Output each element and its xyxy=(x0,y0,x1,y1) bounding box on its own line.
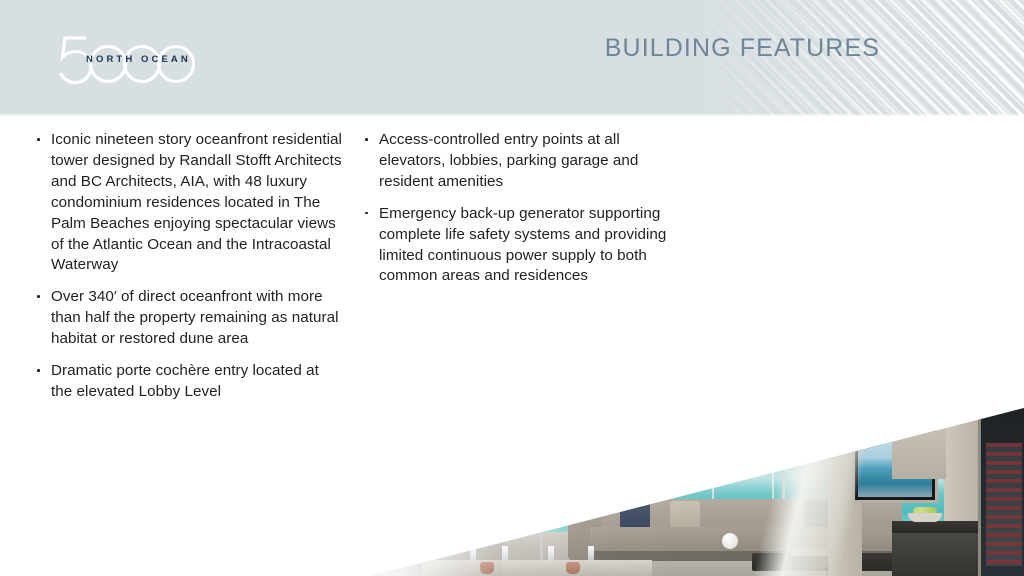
list-item: Emergency back-up generator supporting c… xyxy=(362,204,674,288)
list-item-text: Over 340′ of direct oceanfront with more… xyxy=(51,288,339,347)
photo-ceiling xyxy=(352,395,1024,576)
list-item-text: Emergency back-up generator supporting c… xyxy=(379,205,666,285)
interior-rendering-photo xyxy=(352,395,1024,576)
page-title: BUILDING FEATURES xyxy=(605,34,880,63)
list-item: Iconic nineteen story oceanfront residen… xyxy=(34,130,344,276)
bullet-dot-icon xyxy=(37,369,40,372)
list-item-text: Access-controlled entry points at all el… xyxy=(379,131,638,190)
right-bullet-column: Access-controlled entry points at all el… xyxy=(362,130,674,287)
right-bullet-list: Access-controlled entry points at all el… xyxy=(362,130,674,287)
logo-5000-north-ocean: NORTH OCEAN xyxy=(56,33,246,87)
bullet-dot-icon xyxy=(37,295,40,298)
presentation-slide: NORTH OCEAN BUILDING FEATURES Iconic nin… xyxy=(0,0,1024,576)
left-bullet-column: Iconic nineteen story oceanfront residen… xyxy=(34,130,344,403)
list-item-text: Iconic nineteen story oceanfront residen… xyxy=(51,131,342,273)
logo-wordmark: NORTH OCEAN xyxy=(86,54,191,65)
bullet-dot-icon xyxy=(365,212,368,215)
list-item: Access-controlled entry points at all el… xyxy=(362,130,674,193)
header-divider xyxy=(0,114,1024,116)
list-item-text: Dramatic porte cochère entry located at … xyxy=(51,362,319,400)
list-item: Over 340′ of direct oceanfront with more… xyxy=(34,287,344,350)
photo-left-fade xyxy=(352,395,502,576)
left-bullet-list: Iconic nineteen story oceanfront residen… xyxy=(34,130,344,403)
bullet-dot-icon xyxy=(37,138,40,141)
list-item: Dramatic porte cochère entry located at … xyxy=(34,361,344,403)
bullet-dot-icon xyxy=(365,138,368,141)
